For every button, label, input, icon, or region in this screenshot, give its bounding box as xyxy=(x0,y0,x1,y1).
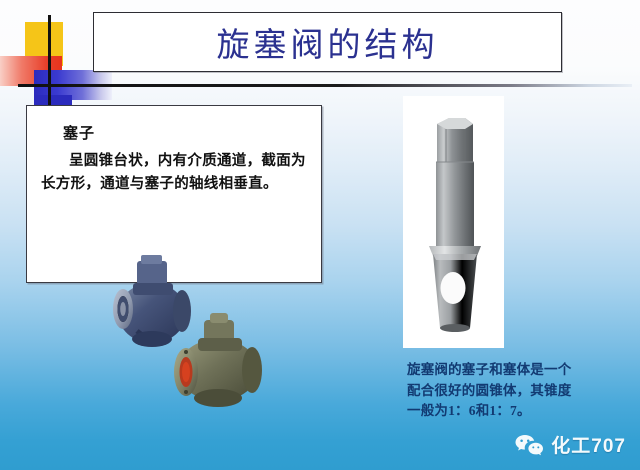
caption-line-3: 一般为1：6和1：7。 xyxy=(407,401,615,422)
watermark-text: 化工707 xyxy=(551,431,626,458)
horizontal-rule xyxy=(18,84,632,87)
tapered-plug-photo xyxy=(403,96,504,348)
textbox-body: 呈圆锥台状，内有介质通道，截面为长方形，通道与塞子的轴线相垂直。 xyxy=(41,150,309,197)
textbox-line-3: 相垂直。 xyxy=(219,176,278,192)
page-title: 旋塞阀的结构 xyxy=(217,18,439,66)
watermark: 化工707 xyxy=(514,431,626,458)
wechat-icon xyxy=(514,433,544,457)
textbox-heading: 塞子 xyxy=(63,122,309,143)
caption-line-1: 旋塞阀的塞子和塞体是一个 xyxy=(407,360,615,381)
caption-line-2: 配合很好的圆锥体，其锥度 xyxy=(407,381,615,402)
textbox-line-1: 呈圆锥台状，内有介质通道， xyxy=(69,153,261,169)
plug-photo-panel xyxy=(403,96,504,348)
plug-caption: 旋塞阀的塞子和塞体是一个 配合很好的圆锥体，其锥度 一般为1：6和1：7。 xyxy=(407,360,615,422)
slide-canvas: 旋塞阀的结构 塞子 呈圆锥台状，内有介质通道，截面为长方形，通道与塞子的轴线相垂… xyxy=(0,0,640,470)
title-box: 旋塞阀的结构 xyxy=(93,12,562,72)
olive-plug-valve-photo xyxy=(158,310,274,415)
